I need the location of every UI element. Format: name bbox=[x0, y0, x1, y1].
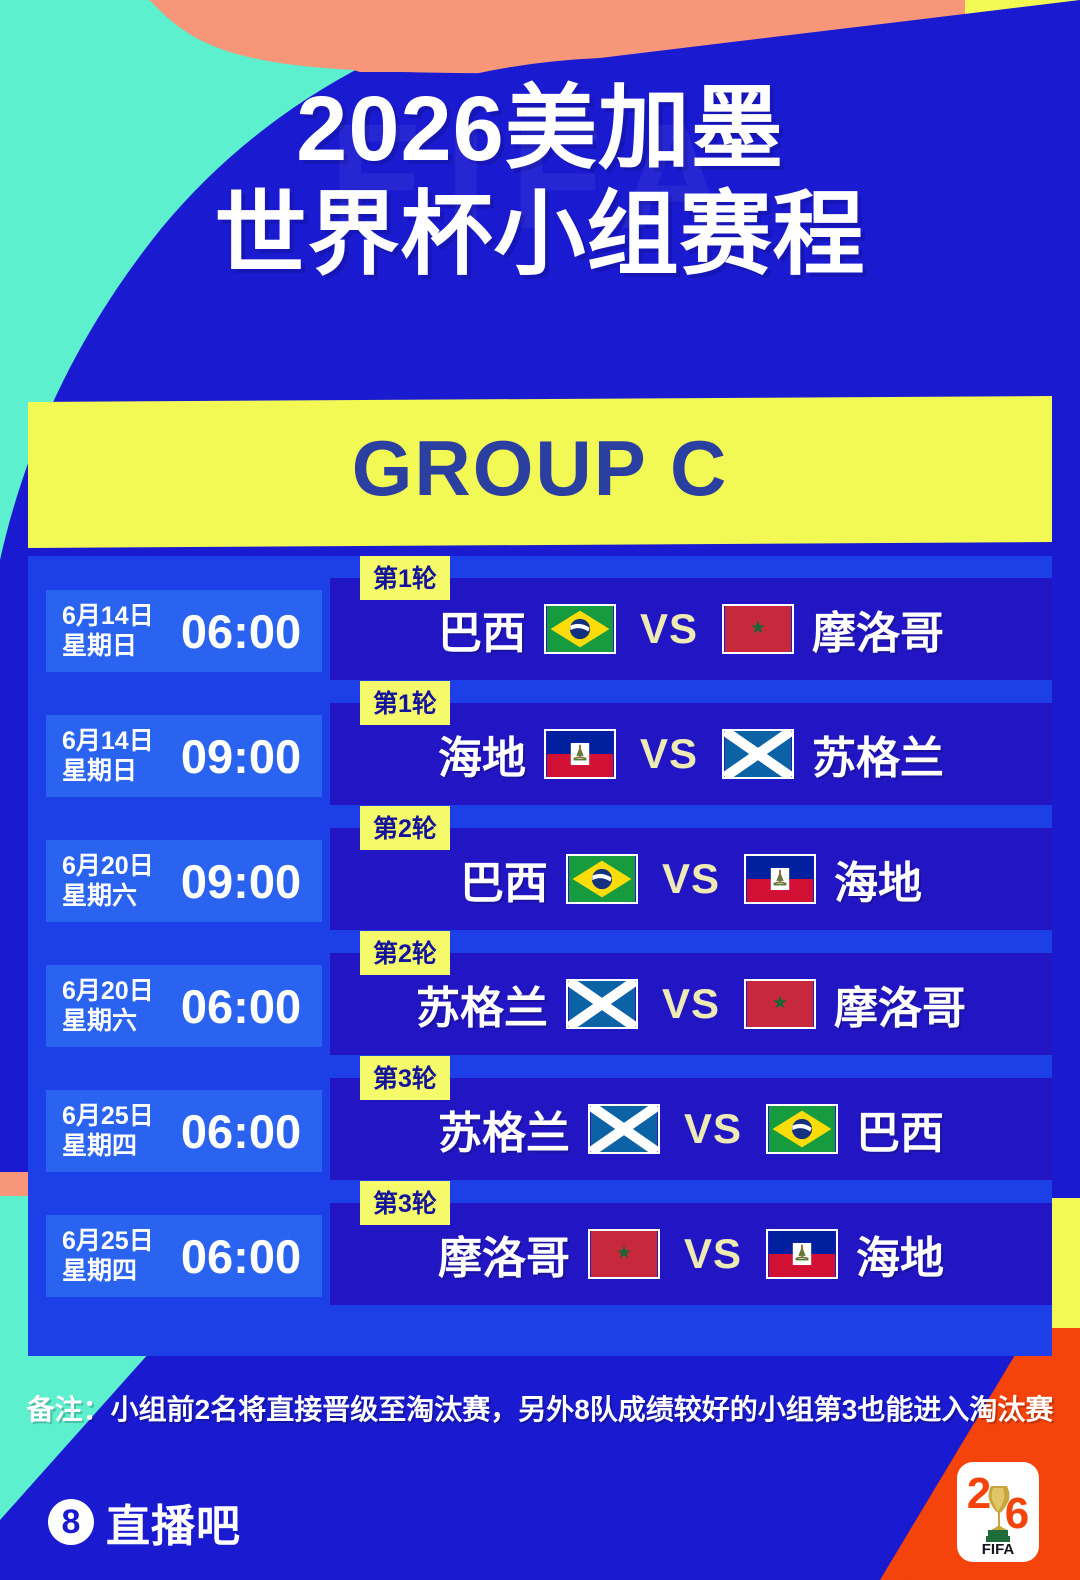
match-date-day: 6月14日 bbox=[62, 726, 166, 757]
scotland-flag-icon bbox=[722, 729, 794, 779]
haiti-flag-icon bbox=[544, 729, 616, 779]
table-row[interactable]: 海地VS苏格兰6月14日星期日09:00第1轮 bbox=[28, 681, 1052, 805]
home-team-name: 摩洛哥 bbox=[438, 1222, 570, 1286]
match-date: 6月20日星期六 bbox=[46, 851, 166, 912]
away-team-name: 海地 bbox=[856, 1222, 944, 1286]
teams: 巴西VS摩洛哥 bbox=[438, 597, 944, 661]
round-badge: 第3轮 bbox=[360, 1181, 450, 1225]
away-team-name: 巴西 bbox=[856, 1097, 944, 1161]
brand-mark-icon: 8 bbox=[48, 1499, 94, 1545]
brazil-flag-icon bbox=[566, 854, 638, 904]
fifa-26-badge-icon: 2 6 FIFA bbox=[955, 1460, 1041, 1564]
match-date: 6月25日星期四 bbox=[46, 1226, 166, 1287]
match-date-day: 6月25日 bbox=[62, 1101, 166, 1132]
yellow-shape-bottom bbox=[1050, 1198, 1080, 1328]
match-date-day: 6月20日 bbox=[62, 976, 166, 1007]
table-row[interactable]: 摩洛哥VS海地6月25日星期四06:00第3轮 bbox=[28, 1181, 1052, 1305]
scotland-flag-icon bbox=[566, 979, 638, 1029]
group-label: GROUP C bbox=[352, 423, 729, 514]
match-date-weekday: 星期四 bbox=[62, 1131, 166, 1162]
home-team-name: 巴西 bbox=[460, 847, 548, 911]
page-header: 2026美加墨 世界杯小组赛程 bbox=[0, 78, 1080, 290]
title-line-1: 2026美加墨 bbox=[0, 78, 1080, 181]
home-team-name: 苏格兰 bbox=[416, 972, 548, 1036]
vs-label: VS bbox=[684, 1230, 742, 1278]
round-badge: 第2轮 bbox=[360, 806, 450, 850]
match-time: 06:00 bbox=[166, 604, 322, 659]
scotland-flag-icon bbox=[588, 1104, 660, 1154]
match-date-weekday: 星期六 bbox=[62, 1006, 166, 1037]
vs-label: VS bbox=[640, 605, 698, 653]
fifa-text: FIFA bbox=[982, 1541, 1015, 1558]
match-date-day: 6月14日 bbox=[62, 601, 166, 632]
match-date-weekday: 星期日 bbox=[62, 756, 166, 787]
table-row[interactable]: 巴西VS摩洛哥6月14日星期日06:00第1轮 bbox=[28, 556, 1052, 680]
home-team-name: 巴西 bbox=[438, 597, 526, 661]
brazil-flag-icon bbox=[766, 1104, 838, 1154]
teams: 苏格兰VS巴西 bbox=[438, 1097, 944, 1161]
brand-logo[interactable]: 8 直播吧 bbox=[48, 1490, 241, 1554]
match-date: 6月14日星期日 bbox=[46, 726, 166, 787]
title-line-2: 世界杯小组赛程 bbox=[0, 181, 1080, 290]
date-time-cell: 6月14日星期日06:00 bbox=[46, 590, 322, 672]
away-team-name: 摩洛哥 bbox=[834, 972, 966, 1036]
round-badge: 第1轮 bbox=[360, 556, 450, 600]
date-time-cell: 6月14日星期日09:00 bbox=[46, 715, 322, 797]
vs-label: VS bbox=[684, 1105, 742, 1153]
haiti-flag-icon bbox=[766, 1229, 838, 1279]
away-team-name: 苏格兰 bbox=[812, 722, 944, 786]
match-date-day: 6月25日 bbox=[62, 1226, 166, 1257]
vs-label: VS bbox=[662, 980, 720, 1028]
match-date: 6月25日星期四 bbox=[46, 1101, 166, 1162]
table-row[interactable]: 巴西VS海地6月20日星期六09:00第2轮 bbox=[28, 806, 1052, 930]
round-badge: 第3轮 bbox=[360, 1056, 450, 1100]
teams: 巴西VS海地 bbox=[460, 847, 922, 911]
haiti-flag-icon bbox=[744, 854, 816, 904]
match-date-day: 6月20日 bbox=[62, 851, 166, 882]
brand-name: 直播吧 bbox=[106, 1490, 241, 1554]
match-time: 09:00 bbox=[166, 854, 322, 909]
away-team-name: 摩洛哥 bbox=[812, 597, 944, 661]
match-time: 06:00 bbox=[166, 1104, 322, 1159]
vs-label: VS bbox=[640, 730, 698, 778]
morocco-flag-icon bbox=[722, 604, 794, 654]
match-time: 06:00 bbox=[166, 1229, 322, 1284]
footnote: 备注：小组前2名将直接晋级至淘汰赛，另外8队成绩较好的小组第3也能进入淘汰赛 bbox=[0, 1388, 1080, 1428]
schedule-table: 巴西VS摩洛哥6月14日星期日06:00第1轮海地VS苏格兰6月14日星期日09… bbox=[28, 556, 1052, 1356]
match-time: 06:00 bbox=[166, 979, 322, 1034]
table-row[interactable]: 苏格兰VS摩洛哥6月20日星期六06:00第2轮 bbox=[28, 931, 1052, 1055]
home-team-name: 苏格兰 bbox=[438, 1097, 570, 1161]
group-banner: GROUP C bbox=[28, 396, 1052, 548]
match-date-weekday: 星期六 bbox=[62, 881, 166, 912]
date-time-cell: 6月20日星期六06:00 bbox=[46, 965, 322, 1047]
date-time-cell: 6月20日星期六09:00 bbox=[46, 840, 322, 922]
match-date-weekday: 星期日 bbox=[62, 631, 166, 662]
teams: 海地VS苏格兰 bbox=[438, 722, 944, 786]
vs-label: VS bbox=[662, 855, 720, 903]
morocco-flag-icon bbox=[588, 1229, 660, 1279]
round-badge: 第1轮 bbox=[360, 681, 450, 725]
home-team-name: 海地 bbox=[438, 722, 526, 786]
teams: 摩洛哥VS海地 bbox=[438, 1222, 944, 1286]
away-team-name: 海地 bbox=[834, 847, 922, 911]
svg-text:2: 2 bbox=[967, 1469, 991, 1518]
morocco-flag-icon bbox=[744, 979, 816, 1029]
match-time: 09:00 bbox=[166, 729, 322, 784]
date-time-cell: 6月25日星期四06:00 bbox=[46, 1215, 322, 1297]
brazil-flag-icon bbox=[544, 604, 616, 654]
match-date-weekday: 星期四 bbox=[62, 1256, 166, 1287]
match-date: 6月14日星期日 bbox=[46, 601, 166, 662]
teams: 苏格兰VS摩洛哥 bbox=[416, 972, 966, 1036]
round-badge: 第2轮 bbox=[360, 931, 450, 975]
match-date: 6月20日星期六 bbox=[46, 976, 166, 1037]
date-time-cell: 6月25日星期四06:00 bbox=[46, 1090, 322, 1172]
table-row[interactable]: 苏格兰VS巴西6月25日星期四06:00第3轮 bbox=[28, 1056, 1052, 1180]
